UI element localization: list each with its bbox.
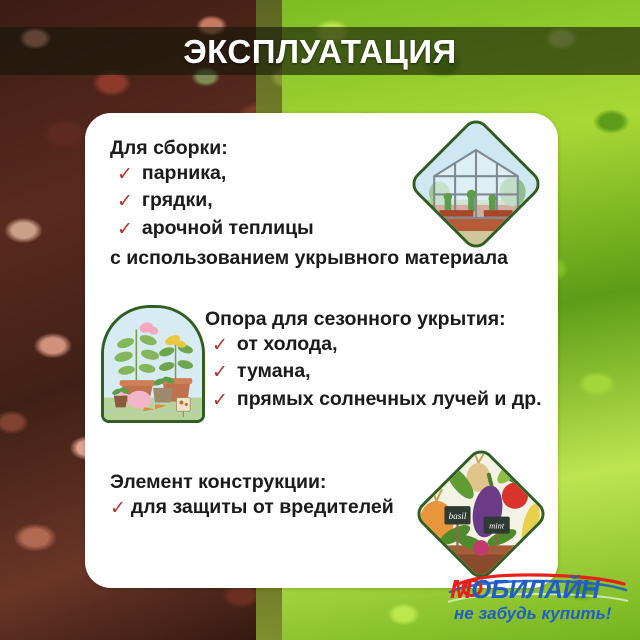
- potted-plants-arch-icon: [101, 305, 205, 423]
- svg-text:mint: mint: [489, 520, 505, 530]
- block-element-heading: Элемент конструкции:: [110, 471, 394, 494]
- list-item-label: прямых солнечных лучей и др.: [237, 386, 542, 413]
- page-title: ЭКСПЛУАТАЦИЯ: [183, 35, 457, 68]
- list-item: ✓ прямых солнечных лучей и др.: [212, 386, 542, 413]
- block-support: Опора для сезонного укрытия: ✓ от холода…: [205, 308, 542, 413]
- header-band: ЭКСПЛУАТАЦИЯ: [0, 27, 640, 75]
- list-item: ✓ тумана,: [212, 358, 542, 385]
- logo-word-red: М: [450, 574, 471, 604]
- logo-word-blue: ОБИЛАЙН: [471, 574, 599, 604]
- list-item-label: грядки,: [142, 187, 213, 214]
- check-icon: ✓: [110, 495, 126, 522]
- vegetables-diamond-icon: basil mint: [412, 445, 551, 584]
- logo-wordmark: МОБИЛАЙН: [450, 576, 599, 602]
- svg-text:basil: basil: [449, 511, 467, 521]
- logo-tagline: не забудь купить!: [454, 605, 611, 622]
- list-item-label: арочной теплицы: [142, 215, 314, 242]
- block-element: Элемент конструкции: ✓ для защиты от вре…: [110, 471, 394, 521]
- check-icon: ✓: [117, 188, 133, 215]
- check-icon: ✓: [117, 216, 133, 243]
- block-assembly-tail: с использованием укрывного материала: [110, 247, 508, 270]
- check-icon: ✓: [212, 387, 228, 414]
- list-item-label: тумана,: [237, 358, 311, 385]
- mobilain-logo[interactable]: МОБИЛАЙН не забудь купить!: [446, 572, 631, 630]
- block-support-heading: Опора для сезонного укрытия:: [205, 308, 542, 331]
- list-item: ✓ от холода,: [212, 331, 542, 358]
- content-card: Для сборки: ✓ парника, ✓ грядки, ✓ арочн…: [85, 113, 558, 588]
- list-item: ✓ для защиты от вредителей: [110, 494, 394, 521]
- list-item-label: парника,: [142, 160, 226, 187]
- list-item-label: от холода,: [237, 331, 338, 358]
- check-icon: ✓: [212, 332, 228, 359]
- check-icon: ✓: [212, 359, 228, 386]
- check-icon: ✓: [117, 161, 133, 188]
- list-item-label: для защиты от вредителей: [131, 494, 394, 521]
